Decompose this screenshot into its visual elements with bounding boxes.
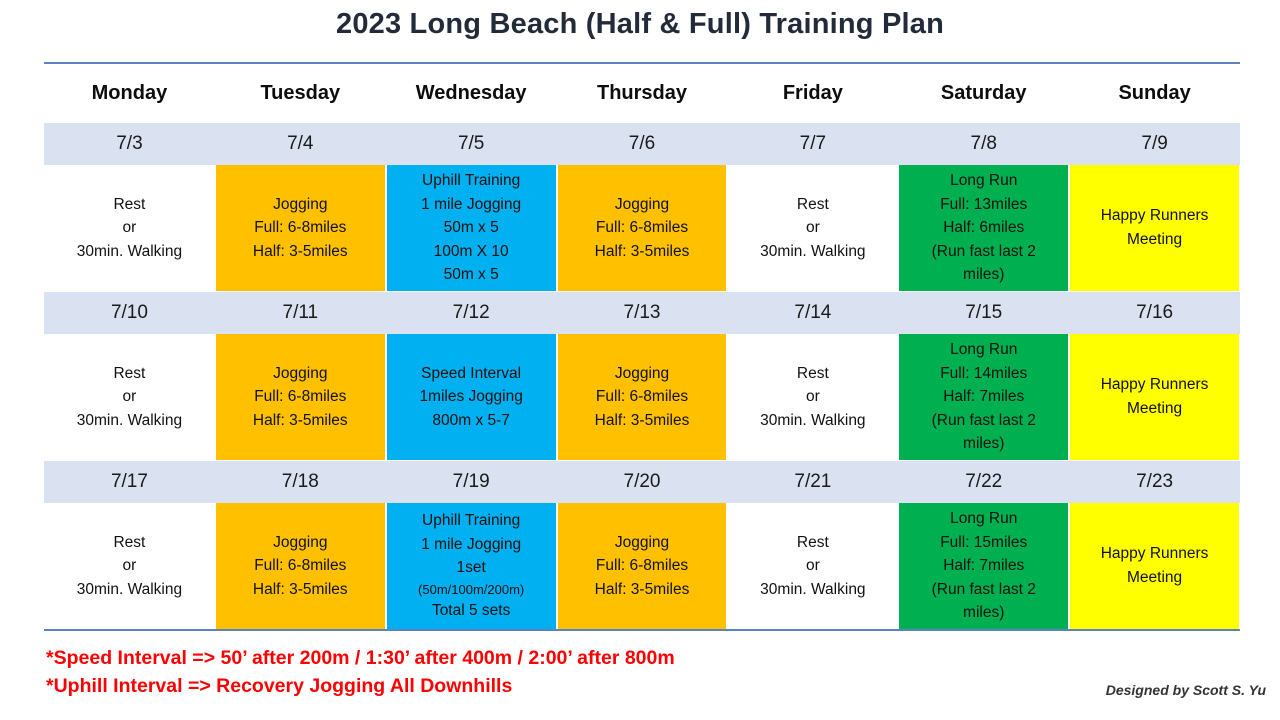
workout-line: Full: 6-8miles	[254, 385, 346, 409]
workout-block-none: Restor30min. Walking	[44, 165, 215, 291]
workout-line: Long Run	[950, 507, 1017, 531]
workout-line: Half: 7miles	[943, 385, 1024, 409]
workout-block-none: Restor30min. Walking	[44, 503, 215, 629]
workout-line: Full: 6-8miles	[596, 385, 688, 409]
footnotes: *Speed Interval => 50’ after 200m / 1:30…	[46, 644, 675, 701]
workout-line: or	[123, 385, 137, 409]
date-cell: 7/14	[727, 292, 898, 334]
weekday-header-thursday: Thursday	[557, 64, 728, 122]
date-cell: 7/23	[1069, 461, 1240, 503]
workout-cell[interactable]: Happy RunnersMeeting	[1069, 334, 1240, 460]
weekday-header-tuesday: Tuesday	[215, 64, 386, 122]
workout-line: Rest	[113, 531, 145, 555]
workout-line: 100m X 10	[434, 240, 509, 264]
date-cell: 7/7	[727, 123, 898, 165]
workout-line: 800m x 5-7	[432, 409, 510, 433]
workout-line: 30min. Walking	[77, 578, 182, 602]
workout-block-orange: JoggingFull: 6-8milesHalf: 3-5miles	[558, 165, 727, 291]
date-row: 7/37/47/57/67/77/87/9	[44, 122, 1240, 165]
workout-block-blue: Uphill Training1 mile Jogging50m x 5100m…	[387, 165, 556, 291]
workout-line: Full: 6-8miles	[254, 554, 346, 578]
date-cell: 7/19	[386, 461, 557, 503]
workout-line: Jogging	[615, 193, 669, 217]
workout-line: or	[806, 385, 820, 409]
workout-line: Happy Runners	[1101, 204, 1209, 228]
workout-line: Full: 6-8miles	[596, 554, 688, 578]
workout-cell[interactable]: JoggingFull: 6-8milesHalf: 3-5miles	[557, 334, 728, 460]
workout-line: Full: 14miles	[940, 362, 1027, 386]
workout-line: Half: 3-5miles	[595, 409, 690, 433]
workout-line: 1 mile Jogging	[421, 193, 521, 217]
workout-line: Happy Runners	[1101, 373, 1209, 397]
workout-block-orange: JoggingFull: 6-8milesHalf: 3-5miles	[216, 503, 385, 629]
workout-row: Restor30min. WalkingJoggingFull: 6-8mile…	[44, 334, 1240, 460]
workout-block-yellow: Happy RunnersMeeting	[1070, 165, 1239, 291]
workout-line: Rest	[797, 531, 829, 555]
date-cell: 7/15	[898, 292, 1069, 334]
workout-line: Jogging	[273, 531, 327, 555]
workout-line: Half: 7miles	[943, 554, 1024, 578]
workout-block-green: Long RunFull: 14milesHalf: 7miles(Run fa…	[899, 334, 1068, 460]
weeks-container: 7/37/47/57/67/77/87/9Restor30min. Walkin…	[44, 122, 1240, 629]
weekday-header-saturday: Saturday	[898, 64, 1069, 122]
weekday-header-monday: Monday	[44, 64, 215, 122]
workout-line: Half: 3-5miles	[253, 240, 348, 264]
workout-cell[interactable]: JoggingFull: 6-8milesHalf: 3-5miles	[215, 334, 386, 460]
workout-line: or	[806, 554, 820, 578]
workout-line: Total 5 sets	[432, 599, 510, 623]
workout-block-yellow: Happy RunnersMeeting	[1070, 334, 1239, 460]
date-row: 7/177/187/197/207/217/227/23	[44, 460, 1240, 503]
workout-cell[interactable]: JoggingFull: 6-8milesHalf: 3-5miles	[215, 165, 386, 291]
workout-cell[interactable]: Uphill Training1 mile Jogging1set(50m/10…	[386, 503, 557, 629]
workout-cell[interactable]: Restor30min. Walking	[44, 165, 215, 291]
workout-line: Rest	[797, 193, 829, 217]
workout-cell[interactable]: Restor30min. Walking	[727, 334, 898, 460]
workout-cell[interactable]: Speed Interval1miles Jogging800m x 5-7	[386, 334, 557, 460]
workout-line: 50m x 5	[444, 216, 499, 240]
date-cell: 7/18	[215, 461, 386, 503]
workout-line: Half: 3-5miles	[595, 240, 690, 264]
workout-line: 50m x 5	[444, 263, 499, 287]
workout-line: Rest	[113, 193, 145, 217]
workout-block-orange: JoggingFull: 6-8milesHalf: 3-5miles	[216, 165, 385, 291]
workout-block-green: Long RunFull: 15milesHalf: 7miles(Run fa…	[899, 503, 1068, 629]
workout-line: (50m/100m/200m)	[418, 580, 524, 600]
date-cell: 7/6	[557, 123, 728, 165]
workout-cell[interactable]: Long RunFull: 14milesHalf: 7miles(Run fa…	[898, 334, 1069, 460]
workout-line: (Run fast last 2	[932, 578, 1036, 602]
workout-line: Rest	[797, 362, 829, 386]
workout-line: Speed Interval	[421, 362, 521, 386]
date-cell: 7/22	[898, 461, 1069, 503]
workout-block-none: Restor30min. Walking	[727, 334, 898, 460]
training-plan-page: 2023 Long Beach (Half & Full) Training P…	[0, 0, 1280, 720]
workout-line: Half: 3-5miles	[253, 409, 348, 433]
workout-line: Long Run	[950, 338, 1017, 362]
workout-block-none: Restor30min. Walking	[44, 334, 215, 460]
date-cell: 7/16	[1069, 292, 1240, 334]
weekday-header-sunday: Sunday	[1069, 64, 1240, 122]
workout-cell[interactable]: Uphill Training1 mile Jogging50m x 5100m…	[386, 165, 557, 291]
date-cell: 7/10	[44, 292, 215, 334]
page-title: 2023 Long Beach (Half & Full) Training P…	[0, 8, 1280, 41]
workout-line: Half: 3-5miles	[595, 578, 690, 602]
footnote-line: *Speed Interval => 50’ after 200m / 1:30…	[46, 644, 675, 672]
workout-line: miles)	[963, 432, 1004, 456]
workout-line: Full: 13miles	[940, 193, 1027, 217]
workout-block-none: Restor30min. Walking	[727, 165, 898, 291]
workout-cell[interactable]: JoggingFull: 6-8milesHalf: 3-5miles	[215, 503, 386, 629]
workout-line: 30min. Walking	[77, 409, 182, 433]
workout-cell[interactable]: Restor30min. Walking	[727, 165, 898, 291]
workout-block-yellow: Happy RunnersMeeting	[1070, 503, 1239, 629]
workout-cell[interactable]: Long RunFull: 13milesHalf: 6miles(Run fa…	[898, 165, 1069, 291]
workout-block-orange: JoggingFull: 6-8milesHalf: 3-5miles	[558, 334, 727, 460]
date-cell: 7/21	[727, 461, 898, 503]
workout-line: 30min. Walking	[77, 240, 182, 264]
date-cell: 7/12	[386, 292, 557, 334]
workout-line: 1 mile Jogging	[421, 533, 521, 557]
workout-line: 1set	[456, 556, 485, 580]
date-row: 7/107/117/127/137/147/157/16	[44, 291, 1240, 334]
workout-block-green: Long RunFull: 13milesHalf: 6miles(Run fa…	[899, 165, 1068, 291]
date-cell: 7/13	[557, 292, 728, 334]
workout-line: Jogging	[615, 531, 669, 555]
workout-line: Full: 15miles	[940, 531, 1027, 555]
footnote-line: *Uphill Interval => Recovery Jogging All…	[46, 672, 675, 700]
workout-block-blue: Uphill Training1 mile Jogging1set(50m/10…	[387, 503, 556, 629]
workout-line: (Run fast last 2	[932, 409, 1036, 433]
date-cell: 7/17	[44, 461, 215, 503]
weekday-header-friday: Friday	[727, 64, 898, 122]
workout-line: Jogging	[615, 362, 669, 386]
workout-row: Restor30min. WalkingJoggingFull: 6-8mile…	[44, 503, 1240, 629]
workout-line: Full: 6-8miles	[254, 216, 346, 240]
workout-line: Meeting	[1127, 566, 1182, 590]
workout-cell[interactable]: Restor30min. Walking	[44, 503, 215, 629]
workout-line: 1miles Jogging	[419, 385, 522, 409]
workout-line: Meeting	[1127, 397, 1182, 421]
date-cell: 7/20	[557, 461, 728, 503]
weekday-header-row: MondayTuesdayWednesdayThursdayFridaySatu…	[44, 64, 1240, 122]
workout-line: Half: 3-5miles	[253, 578, 348, 602]
workout-block-blue: Speed Interval1miles Jogging800m x 5-7	[387, 334, 556, 460]
workout-line: miles)	[963, 263, 1004, 287]
date-cell: 7/11	[215, 292, 386, 334]
weekday-header-wednesday: Wednesday	[386, 64, 557, 122]
workout-cell[interactable]: JoggingFull: 6-8milesHalf: 3-5miles	[557, 503, 728, 629]
workout-line: (Run fast last 2	[932, 240, 1036, 264]
table-bottom-rule	[44, 629, 1240, 631]
workout-line: 30min. Walking	[760, 578, 865, 602]
date-cell: 7/8	[898, 123, 1069, 165]
date-cell: 7/4	[215, 123, 386, 165]
date-cell: 7/5	[386, 123, 557, 165]
workout-cell[interactable]: Restor30min. Walking	[44, 334, 215, 460]
workout-cell[interactable]: Restor30min. Walking	[727, 503, 898, 629]
workout-line: Long Run	[950, 169, 1017, 193]
workout-line: miles)	[963, 601, 1004, 625]
workout-cell[interactable]: Long RunFull: 15milesHalf: 7miles(Run fa…	[898, 503, 1069, 629]
training-plan-table: MondayTuesdayWednesdayThursdayFridaySatu…	[44, 62, 1240, 631]
workout-line: 30min. Walking	[760, 409, 865, 433]
workout-block-orange: JoggingFull: 6-8milesHalf: 3-5miles	[216, 334, 385, 460]
workout-line: Meeting	[1127, 228, 1182, 252]
workout-line: Half: 6miles	[943, 216, 1024, 240]
workout-line: Uphill Training	[422, 169, 520, 193]
workout-cell[interactable]: JoggingFull: 6-8milesHalf: 3-5miles	[557, 165, 728, 291]
workout-line: Jogging	[273, 193, 327, 217]
workout-line: or	[806, 216, 820, 240]
date-cell: 7/9	[1069, 123, 1240, 165]
workout-block-none: Restor30min. Walking	[727, 503, 898, 629]
designer-credit: Designed by Scott S. Yu	[1106, 682, 1266, 698]
workout-line: or	[123, 554, 137, 578]
workout-line: Happy Runners	[1101, 542, 1209, 566]
workout-cell[interactable]: Happy RunnersMeeting	[1069, 503, 1240, 629]
workout-block-orange: JoggingFull: 6-8milesHalf: 3-5miles	[558, 503, 727, 629]
workout-cell[interactable]: Happy RunnersMeeting	[1069, 165, 1240, 291]
workout-line: or	[123, 216, 137, 240]
date-cell: 7/3	[44, 123, 215, 165]
workout-row: Restor30min. WalkingJoggingFull: 6-8mile…	[44, 165, 1240, 291]
workout-line: Full: 6-8miles	[596, 216, 688, 240]
workout-line: Jogging	[273, 362, 327, 386]
workout-line: 30min. Walking	[760, 240, 865, 264]
workout-line: Uphill Training	[422, 509, 520, 533]
workout-line: Rest	[113, 362, 145, 386]
